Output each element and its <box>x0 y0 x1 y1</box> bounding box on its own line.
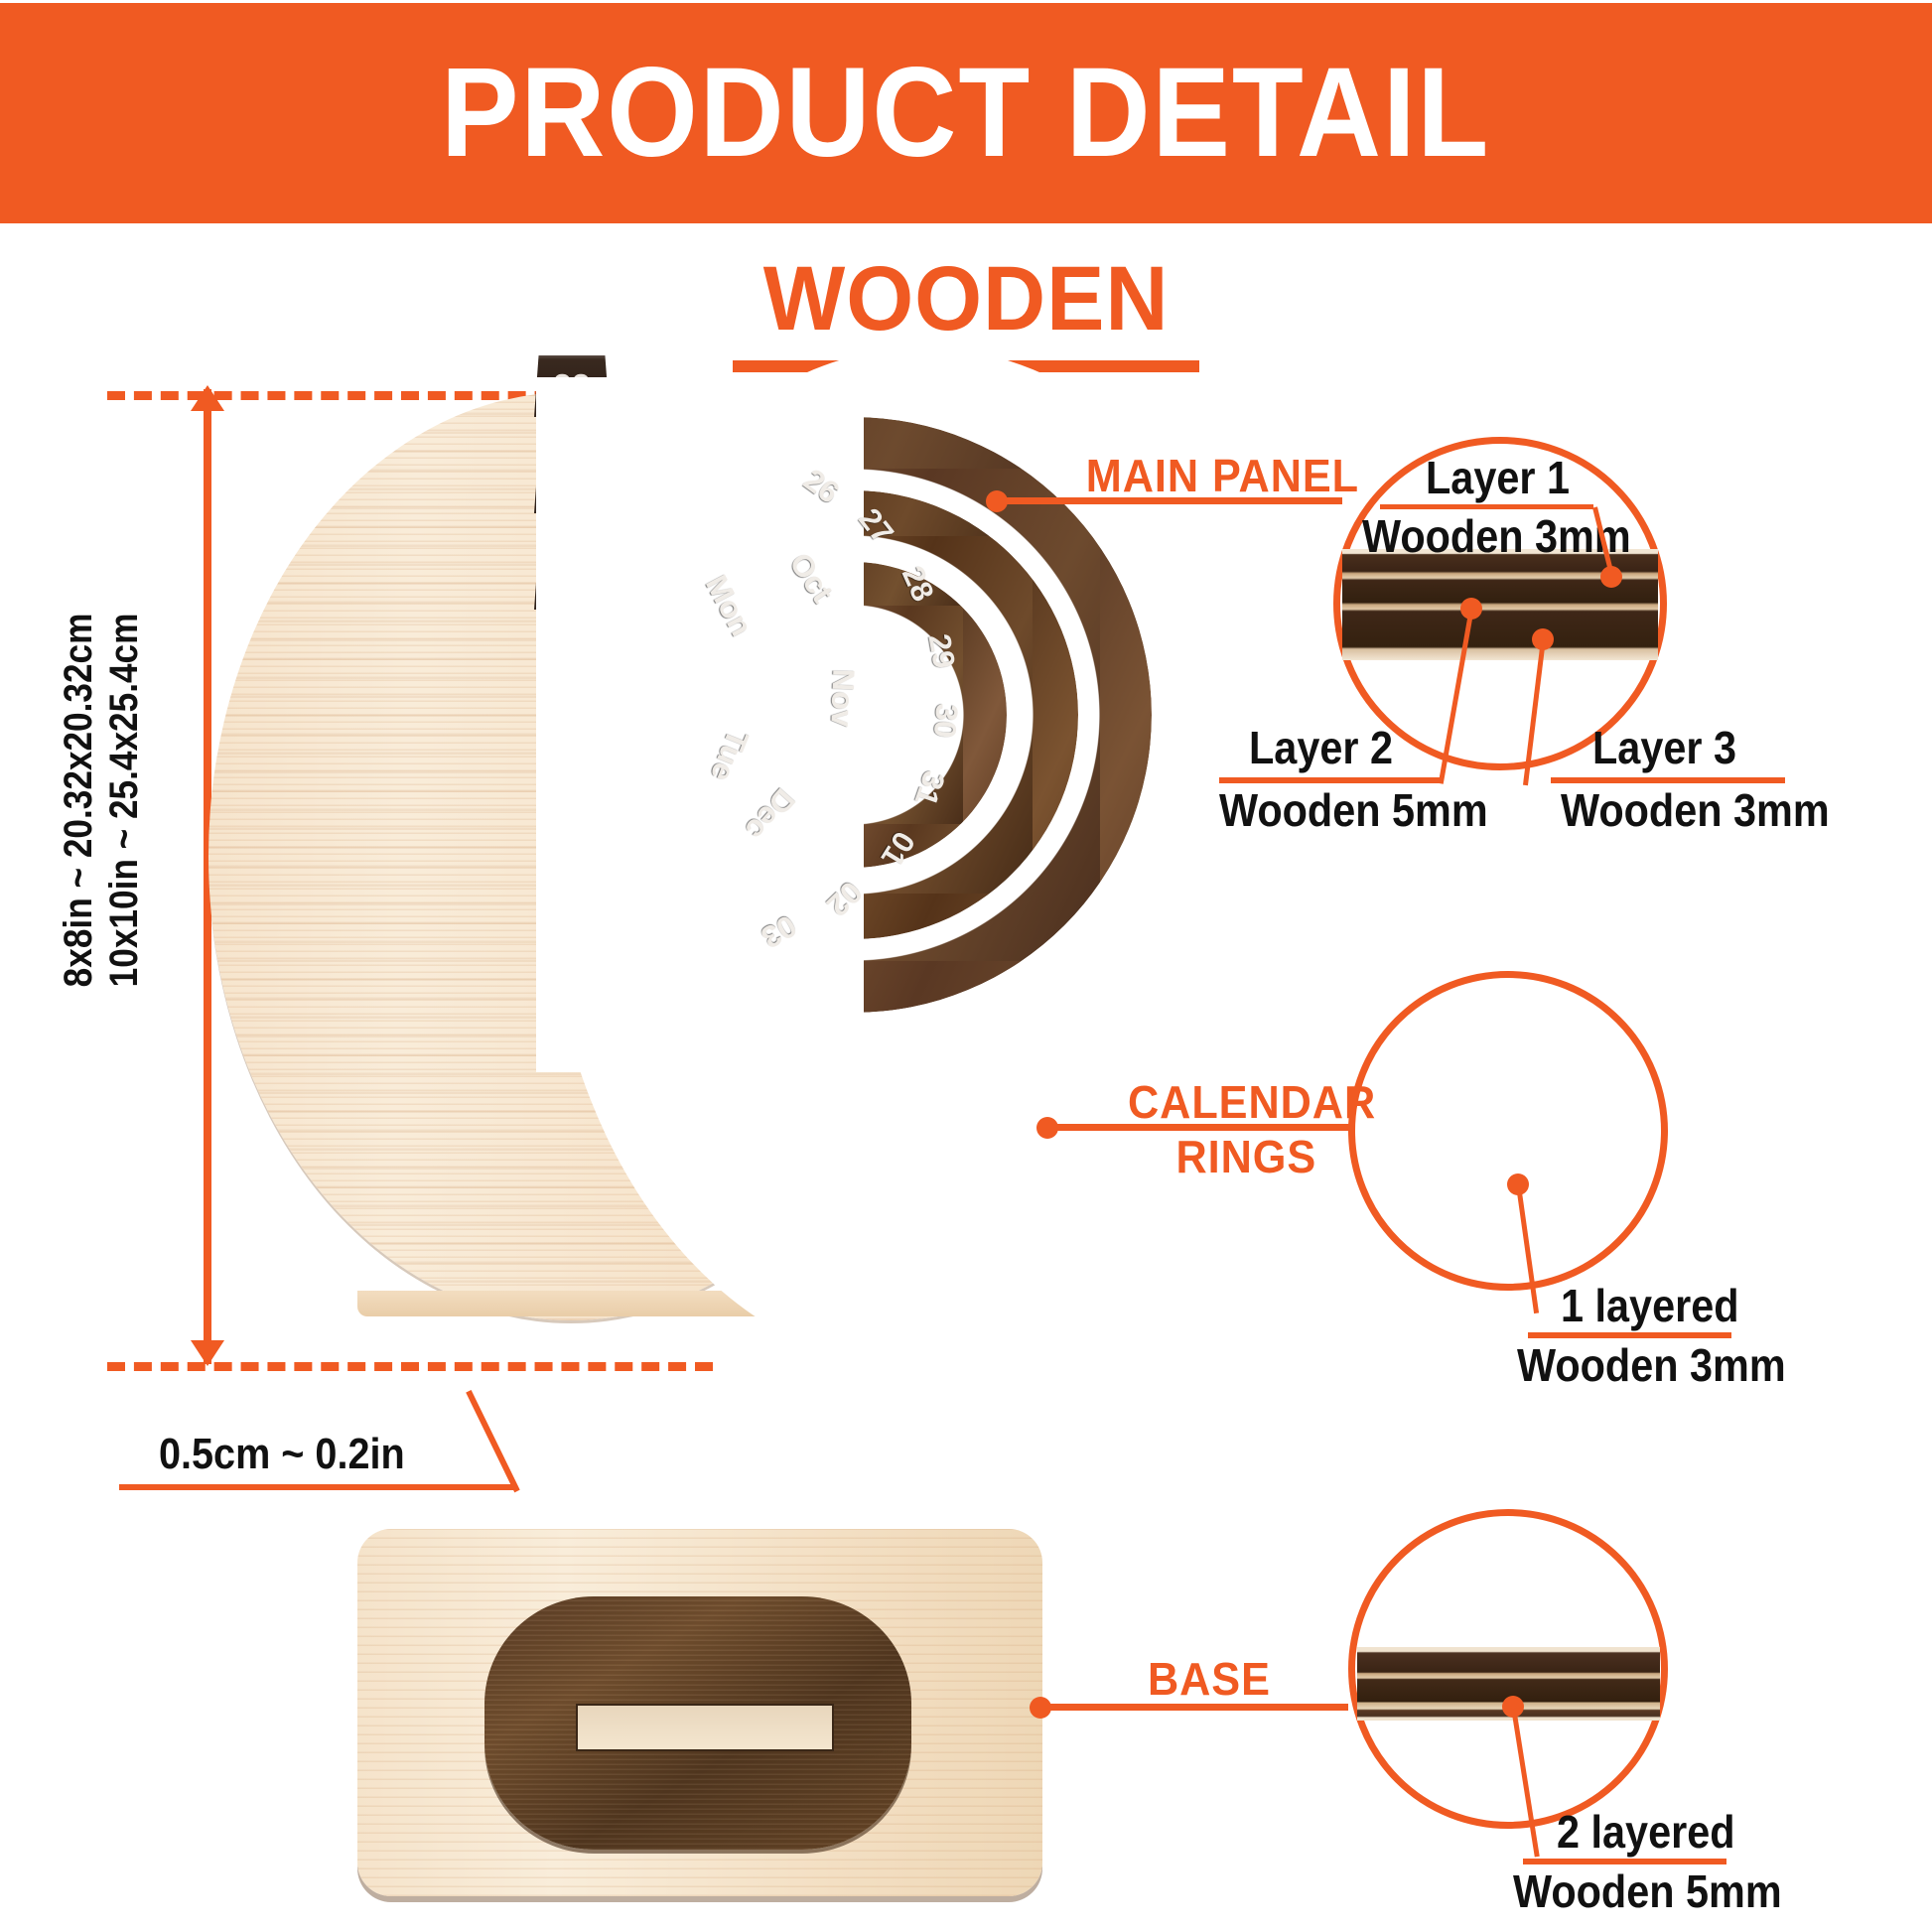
layer-2-spec: Wooden 5mm <box>1219 783 1488 837</box>
month-ring-label: Nov <box>823 668 861 728</box>
layer-3-spec: Wooden 3mm <box>1561 783 1830 837</box>
calendar-rings-zoom-circle <box>1348 971 1668 1291</box>
layer-3-title: Layer 3 <box>1592 721 1736 774</box>
layer-2-title: Layer 2 <box>1249 721 1393 774</box>
base-spec-title: 2 layered <box>1557 1805 1735 1859</box>
main-panel-callout-label: MAIN PANEL <box>1086 449 1359 502</box>
thickness-label: 0.5cm ~ 0.2in <box>159 1430 405 1479</box>
header-bar: PRODUCT DETAIL <box>0 3 1932 223</box>
size-label-8in: 8x8in ~ 20.32x20.32cm <box>56 614 101 988</box>
base-inset-plate <box>484 1596 911 1850</box>
layer-1-spec: Wooden 3mm <box>1362 509 1631 563</box>
thickness-leader-diagonal <box>466 1390 519 1492</box>
calendar-rings-callout-line2: RINGS <box>1176 1130 1317 1183</box>
layer-1-title: Layer 1 <box>1426 451 1570 504</box>
base-spec-sub: Wooden 5mm <box>1513 1864 1782 1918</box>
base-callout-label: BASE <box>1148 1652 1271 1706</box>
page-title: PRODUCT DETAIL <box>441 50 1490 177</box>
calendar-rings-spec-title: 1 layered <box>1561 1279 1739 1332</box>
calendar-rings-illustration: 26 27 28 29 30 31 01 02 03 Oct Nov Dec M… <box>556 417 1172 1112</box>
size-label-10in: 10x10in ~ 25.4x25.4cm <box>101 614 147 988</box>
base-board <box>357 1529 1042 1896</box>
base-slot <box>576 1704 834 1751</box>
calendar-rings-callout-line1: CALENDAR <box>1128 1075 1376 1129</box>
layer-1-anchor-dot <box>1600 566 1622 588</box>
date-ring-label: 30 <box>926 702 965 739</box>
date-ring-label: 29 <box>921 631 962 671</box>
calendar-rings-spec-sub: Wooden 3mm <box>1517 1338 1786 1392</box>
dimension-labels: 8x8in ~ 20.32x20.32cm 10x10in ~ 25.4x25.… <box>56 453 147 1148</box>
subtitle-text: WOODEN <box>763 253 1170 345</box>
thickness-leader-underline <box>119 1484 516 1490</box>
